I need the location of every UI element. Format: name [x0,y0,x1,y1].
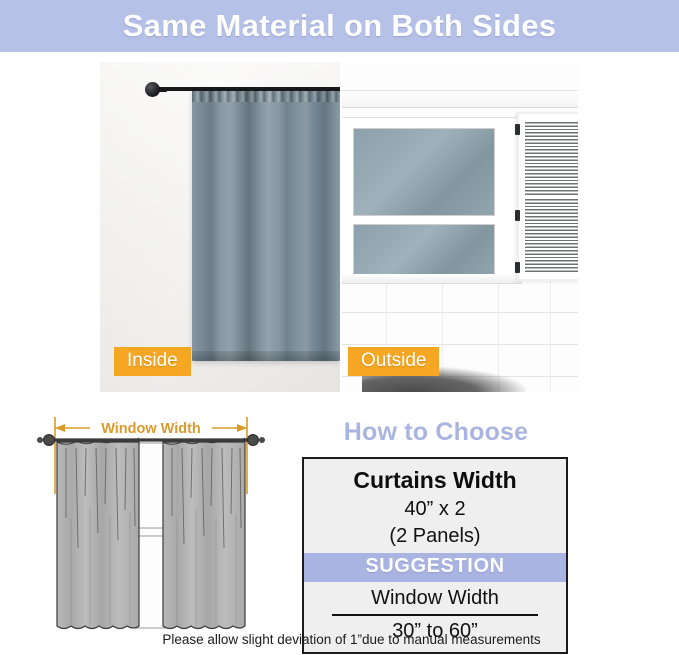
shutter-hinge-icon [515,210,520,221]
size-table: Curtains Width 40” x 2 (2 Panels) SUGGES… [302,457,568,654]
diagram-panel-right [163,438,245,629]
window-width-diagram: Window Width [22,398,280,643]
photo-row: Inside Outside [0,62,679,392]
arrow-head-right [237,424,247,432]
how-to-choose-title: How to Choose [286,418,586,447]
caption-inside: Inside [114,347,191,376]
caption-outside: Outside [348,347,439,376]
header-banner: Same Material on Both Sides [0,0,679,52]
row-curtains-width: Curtains Width [304,459,566,497]
how-to-choose-block: How to Choose Curtains Width 40” x 2 (2 … [286,418,586,453]
shutter-hinge-icon [515,124,520,135]
arrow-head-left [55,424,65,432]
row-curtain-size: 40” x 2 [304,497,566,524]
diagram-panel-left [57,438,139,629]
table-divider [332,614,538,616]
row-panel-count: (2 Panels) [304,524,566,553]
diagram-finial-cap-left [37,437,43,443]
diagram-finial-right [248,435,259,446]
window-frame [342,117,518,279]
shutter-louvers-lower [525,197,578,274]
curtain-panel [192,89,340,361]
footer-note: Please allow slight deviation of 1”due t… [0,632,679,647]
photo-inside: Inside [100,62,340,392]
photo-outside: Outside [342,62,578,392]
curtain-hem [192,351,340,361]
page-title: Same Material on Both Sides [123,8,557,44]
roof-soffit [342,90,578,108]
curtain-rod [152,87,340,91]
window-sill [342,274,522,284]
measure-label: Window Width [101,421,201,437]
diagram-svg: Window Width [22,398,280,643]
window-pane-top [353,128,495,216]
row-window-width-label: Window Width [304,582,566,612]
diagram-finial-left [44,435,55,446]
rod-finial-icon [145,82,160,97]
louvered-shutter [517,112,578,281]
diagram-finial-cap-right [259,437,265,443]
shutter-hinge-icon [515,262,520,273]
row-suggestion: SUGGESTION [304,553,566,582]
